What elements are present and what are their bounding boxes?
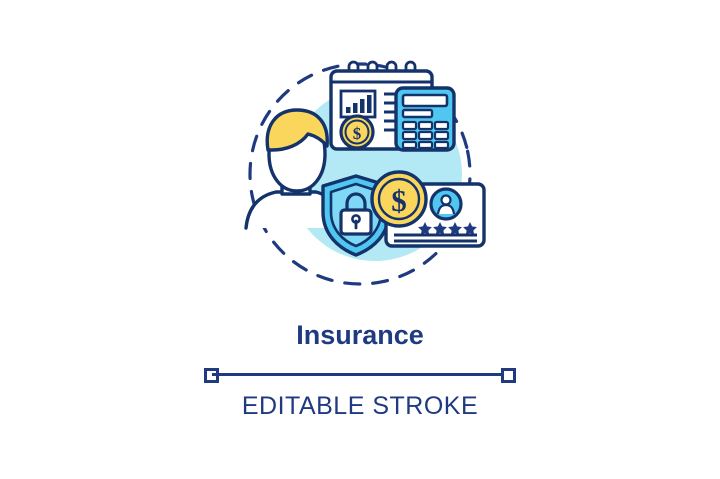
calculator-icon xyxy=(396,88,454,150)
insurance-concept-illustration: $ xyxy=(0,0,720,310)
dollar-symbol-document: $ xyxy=(353,124,362,143)
illustration-svg: $ xyxy=(0,0,720,310)
divider-line xyxy=(212,373,508,376)
divider-handle-right xyxy=(501,368,516,383)
page-title: Insurance xyxy=(0,318,720,352)
divider xyxy=(204,366,516,382)
subtitle: EDITABLE STROKE xyxy=(0,391,720,421)
caption-block: Insurance EDITABLE STROKE xyxy=(0,318,720,421)
page-canvas: $ xyxy=(0,0,720,479)
dollar-coin: $ xyxy=(372,172,426,226)
dollar-symbol-coin: $ xyxy=(391,183,407,218)
calculator-buttons xyxy=(403,122,448,148)
